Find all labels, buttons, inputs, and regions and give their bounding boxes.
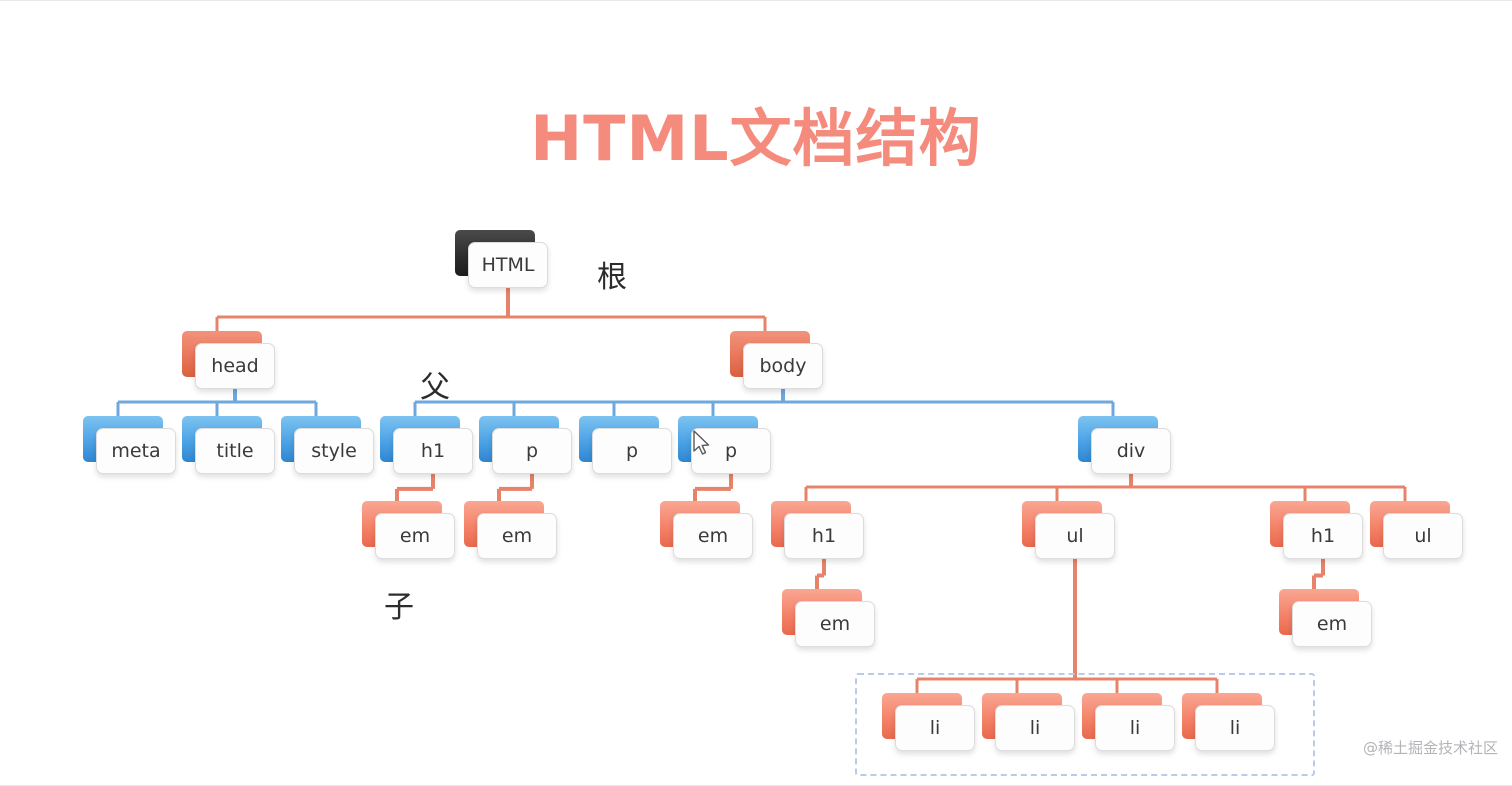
node-label: meta bbox=[96, 428, 176, 474]
tree-node-em2[interactable]: em bbox=[477, 513, 557, 559]
tree-node-meta[interactable]: meta bbox=[96, 428, 176, 474]
page-top-edge bbox=[0, 0, 1512, 1]
node-label: p bbox=[492, 428, 572, 474]
node-label: ul bbox=[1035, 513, 1115, 559]
page-title: HTML文档结构 bbox=[0, 88, 1512, 178]
tree-node-p1[interactable]: p bbox=[492, 428, 572, 474]
tree-node-title[interactable]: title bbox=[195, 428, 275, 474]
node-label: em bbox=[375, 513, 455, 559]
tree-node-html[interactable]: HTML bbox=[468, 242, 548, 288]
node-label: style bbox=[294, 428, 374, 474]
node-label: div bbox=[1091, 428, 1171, 474]
selection-box[interactable] bbox=[855, 673, 1315, 776]
node-label: em bbox=[673, 513, 753, 559]
tree-node-em3[interactable]: em bbox=[673, 513, 753, 559]
tree-node-style[interactable]: style bbox=[294, 428, 374, 474]
tree-node-h1c[interactable]: h1 bbox=[1283, 513, 1363, 559]
tree-node-em4[interactable]: em bbox=[795, 601, 875, 647]
tree-node-em5[interactable]: em bbox=[1292, 601, 1372, 647]
node-label: h1 bbox=[784, 513, 864, 559]
node-label: ul bbox=[1383, 513, 1463, 559]
watermark: @稀土掘金技术社区 bbox=[1363, 737, 1498, 758]
tree-node-ul1[interactable]: ul bbox=[1035, 513, 1115, 559]
node-label: HTML bbox=[468, 242, 548, 288]
node-label: em bbox=[795, 601, 875, 647]
parent-label: 父 bbox=[420, 362, 450, 406]
diagram-canvas: HTML文档结构 HTMLheadbodymetatitlestyleh1ppp… bbox=[0, 0, 1512, 786]
node-label: h1 bbox=[393, 428, 473, 474]
node-label: p bbox=[592, 428, 672, 474]
node-label: em bbox=[477, 513, 557, 559]
node-label: head bbox=[195, 343, 275, 389]
tree-node-h1b[interactable]: h1 bbox=[784, 513, 864, 559]
root-label: 根 bbox=[597, 252, 627, 296]
node-label: em bbox=[1292, 601, 1372, 647]
tree-node-head[interactable]: head bbox=[195, 343, 275, 389]
tree-node-ul2[interactable]: ul bbox=[1383, 513, 1463, 559]
tree-node-body[interactable]: body bbox=[743, 343, 823, 389]
tree-node-div[interactable]: div bbox=[1091, 428, 1171, 474]
child-label: 子 bbox=[384, 582, 414, 626]
node-label: body bbox=[743, 343, 823, 389]
tree-node-p2[interactable]: p bbox=[592, 428, 672, 474]
tree-node-h1a[interactable]: h1 bbox=[393, 428, 473, 474]
mouse-cursor-icon bbox=[692, 430, 712, 456]
tree-node-em1[interactable]: em bbox=[375, 513, 455, 559]
node-label: h1 bbox=[1283, 513, 1363, 559]
node-label: title bbox=[195, 428, 275, 474]
